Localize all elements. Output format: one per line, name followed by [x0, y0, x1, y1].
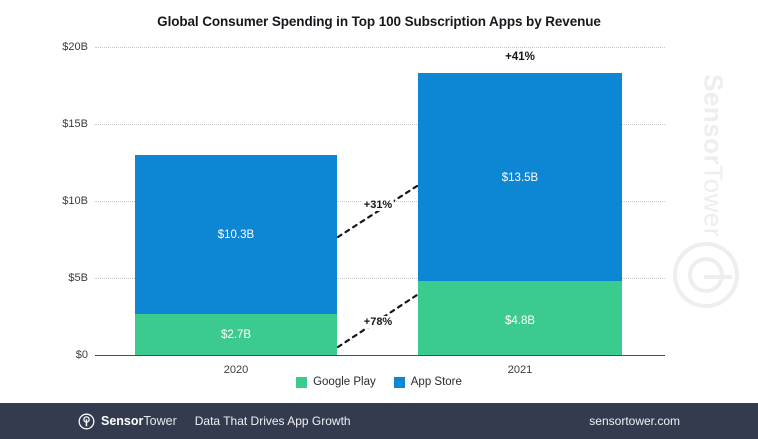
bar-group-2021[interactable]: +41% $13.5B $4.8B 2021: [418, 73, 622, 355]
watermark-brand-light: Tower: [699, 165, 729, 237]
bar-value-google-play-2020: $2.7B: [135, 329, 337, 341]
footer-url[interactable]: sensortower.com: [589, 414, 680, 428]
legend-swatch-google-play: [296, 377, 307, 388]
bar-value-app-store-2021: $13.5B: [418, 172, 622, 184]
annotation-google-play-growth: +78%: [362, 316, 394, 328]
watermark-brand-text: SensorTower: [698, 61, 729, 251]
plot-area: $20B $15B $10B $5B $0 $10.3B $2.7B 2020 …: [0, 0, 758, 400]
footer-brand-strong: Sensor: [101, 414, 143, 428]
ytick-label-10b: $10B: [8, 195, 88, 207]
annotation-app-store-growth: +31%: [362, 199, 394, 211]
ytick-label-5b: $5B: [8, 272, 88, 284]
annotation-total-growth: +41%: [418, 51, 622, 63]
bar-group-2020[interactable]: $10.3B $2.7B 2020: [135, 155, 337, 355]
legend-label-app-store: App Store: [411, 376, 462, 388]
footer-brand-light: Tower: [143, 414, 176, 428]
legend-item-app-store[interactable]: App Store: [394, 376, 462, 388]
xtick-label-2021: 2021: [418, 364, 622, 376]
legend-item-google-play[interactable]: Google Play: [296, 376, 376, 388]
gridline-20: [95, 47, 665, 48]
sensor-tower-logo-icon: [78, 413, 95, 430]
legend-swatch-app-store: [394, 377, 405, 388]
footer-tagline: Data That Drives App Growth: [195, 414, 351, 428]
footer-bar: SensorTower Data That Drives App Growth …: [0, 403, 758, 439]
watermark-brand-strong: Sensor: [699, 74, 729, 165]
watermark: SensorTower: [656, 66, 752, 306]
sensor-tower-logo-icon: [672, 241, 740, 309]
x-axis-line: [95, 355, 665, 356]
ytick-label-15b: $15B: [8, 118, 88, 130]
ytick-label-20b: $20B: [8, 41, 88, 53]
bar-value-app-store-2020: $10.3B: [135, 229, 337, 241]
ytick-label-0: $0: [8, 349, 88, 361]
xtick-label-2020: 2020: [135, 364, 337, 376]
connector-app-store: [338, 186, 417, 237]
chart-legend: Google Play App Store: [0, 376, 758, 388]
bar-value-google-play-2021: $4.8B: [418, 315, 622, 327]
footer-brand[interactable]: SensorTower: [78, 413, 177, 430]
legend-label-google-play: Google Play: [313, 376, 376, 388]
chart-page: Global Consumer Spending in Top 100 Subs…: [0, 0, 758, 439]
